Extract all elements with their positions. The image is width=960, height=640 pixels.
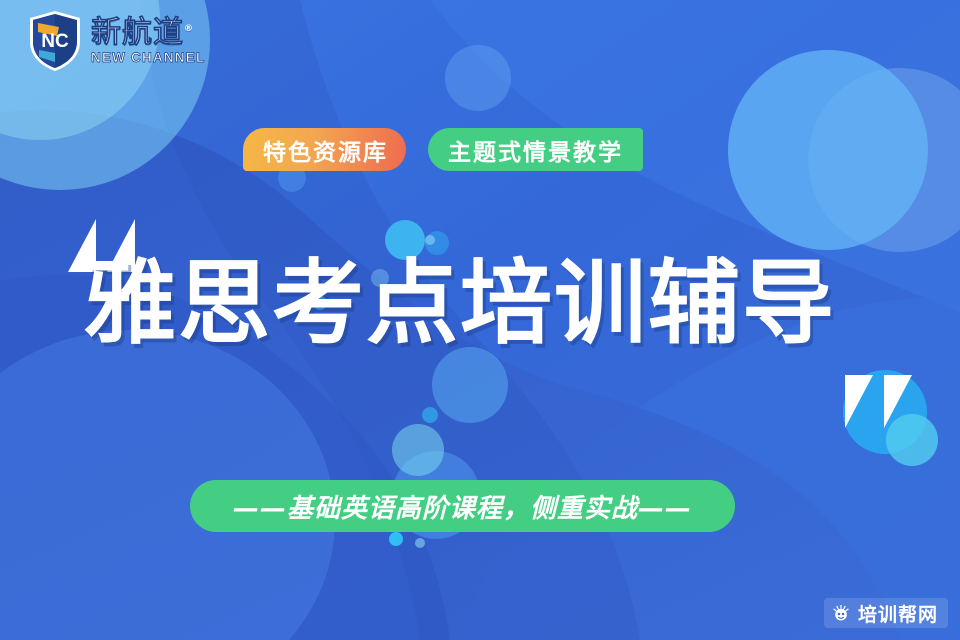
brand-name-en: NEW CHANNEL	[91, 51, 205, 65]
ielts-training-banner: NC 新航道® NEW CHANNEL 特色资源库 主题式情景教学 雅思考点培训…	[0, 0, 960, 640]
nc-shield-logo-icon: NC	[28, 10, 82, 72]
quote-glyph	[884, 375, 912, 428]
watermark-text: 培训帮网	[858, 600, 938, 627]
watermark: 培训帮网	[824, 598, 948, 628]
feature-pill-label: 主题式情景教学	[448, 133, 623, 167]
brand-logo[interactable]: NC 新航道® NEW CHANNEL	[28, 10, 205, 72]
page-title: 雅思考点培训辅导	[84, 258, 836, 350]
feature-pill-thematic-teaching[interactable]: 主题式情景教学	[428, 128, 643, 171]
sun-face-icon	[831, 603, 851, 623]
quote-close-icon	[845, 375, 912, 428]
svg-text:NC: NC	[41, 31, 69, 52]
registered-mark: ®	[184, 24, 194, 34]
subtitle-text: ——基础英语高阶课程，侧重实战——	[233, 488, 692, 525]
quote-glyph	[845, 375, 873, 428]
feature-pill-label: 特色资源库	[263, 133, 388, 167]
brand-name-cn: 新航道®	[91, 18, 194, 48]
feature-pill-row: 特色资源库 主题式情景教学	[243, 128, 643, 171]
subtitle-banner: ——基础英语高阶课程，侧重实战——	[190, 480, 735, 532]
feature-pill-resource-library[interactable]: 特色资源库	[243, 128, 406, 171]
logo-wordmark: 新航道® NEW CHANNEL	[91, 18, 205, 65]
